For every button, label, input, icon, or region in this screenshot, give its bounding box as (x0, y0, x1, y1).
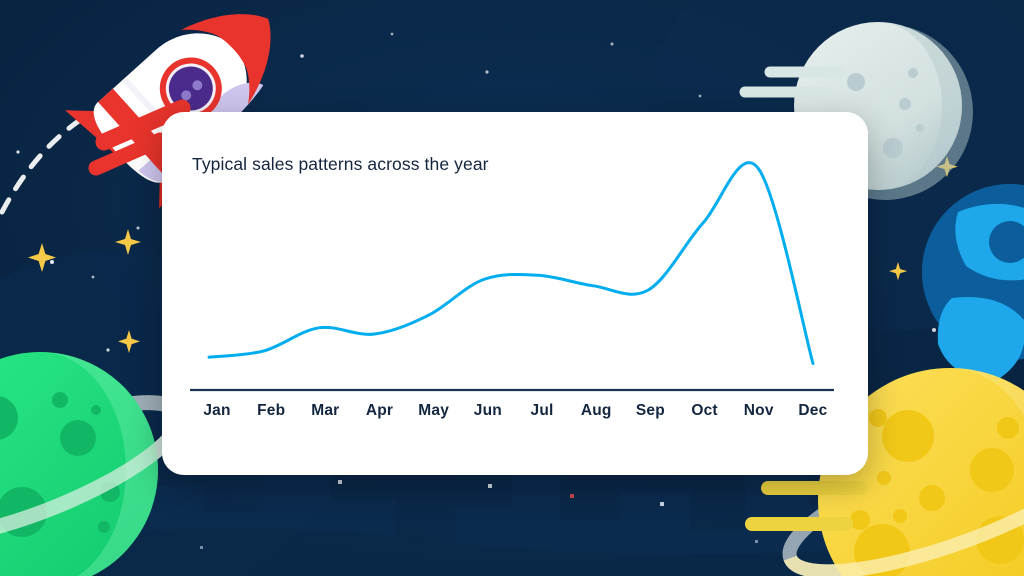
sales-line-series (209, 163, 813, 364)
x-tick-jun: Jun (461, 402, 515, 420)
x-tick-oct: Oct (678, 402, 732, 420)
chart-card: Typical sales patterns across the year J… (162, 112, 868, 475)
x-tick-sep: Sep (623, 402, 677, 420)
x-tick-dec: Dec (786, 402, 840, 420)
x-tick-apr: Apr (353, 402, 407, 420)
x-tick-aug: Aug (569, 402, 623, 420)
x-tick-may: May (407, 402, 461, 420)
x-tick-jan: Jan (190, 402, 244, 420)
x-axis-tick-labels: Jan Feb Mar Apr May Jun Jul Aug Sep Oct … (190, 402, 840, 420)
space-illustration-scene: Typical sales patterns across the year J… (0, 0, 1024, 576)
x-tick-nov: Nov (732, 402, 786, 420)
x-tick-feb: Feb (244, 402, 298, 420)
line-chart-plot (162, 112, 868, 475)
x-tick-jul: Jul (515, 402, 569, 420)
x-tick-mar: Mar (298, 402, 352, 420)
